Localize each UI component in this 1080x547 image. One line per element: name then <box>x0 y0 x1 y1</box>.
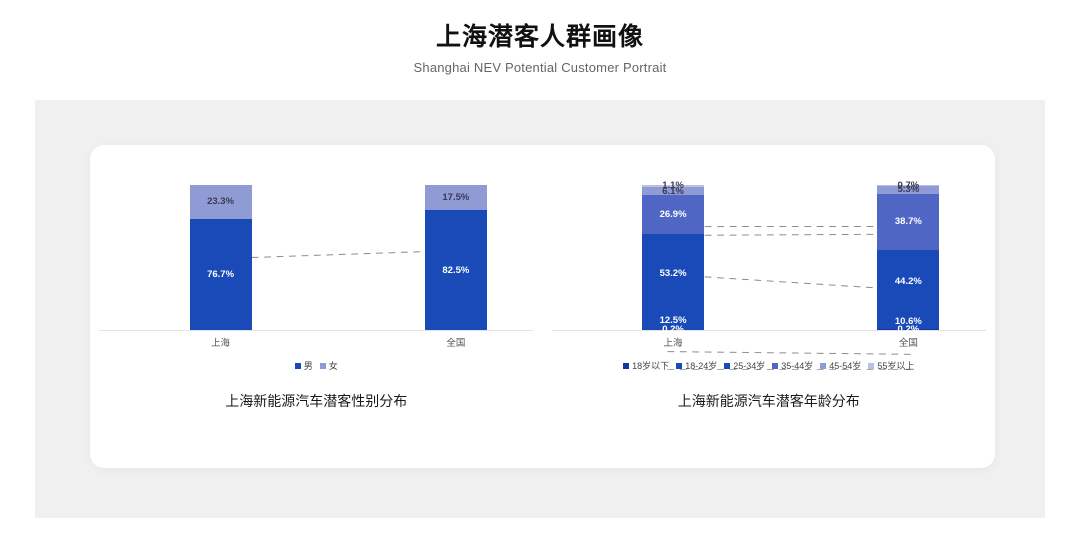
legend-item-女[interactable]: 女 <box>320 359 338 372</box>
legend-swatch-icon <box>623 363 629 369</box>
legend-swatch-icon <box>772 363 778 369</box>
legend-item-18岁以下[interactable]: 18岁以下 <box>623 359 669 372</box>
stack-segment-25-34岁[interactable]: 53.2% <box>642 234 704 311</box>
legend-item-55岁以上[interactable]: 55岁以上 <box>868 359 914 372</box>
legend-swatch-icon <box>295 363 301 369</box>
age-legend: 18岁以下18-24岁25-34岁35-44岁45-54岁55岁以上 <box>543 359 996 372</box>
axis-label-shanghai: 上海 <box>190 335 252 349</box>
axis-label-national: 全国 <box>425 335 487 349</box>
page-header: 上海潜客人群画像 Shanghai NEV Potential Customer… <box>0 0 1080 75</box>
age-bar-national[interactable]: 0.7%5.3%38.7%44.2%10.6%0.2% <box>877 185 939 330</box>
legend-item-18-24岁[interactable]: 18-24岁 <box>676 359 717 372</box>
legend-item-45-54岁[interactable]: 45-54岁 <box>820 359 861 372</box>
stack-segment-男[interactable]: 82.5% <box>425 210 487 330</box>
segment-value-label: 38.7% <box>895 216 922 227</box>
segment-value-label: 5.3% <box>898 184 920 195</box>
chart-age: 1.1%6.1%26.9%53.2%12.5%0.2% 0.7%5.3%38.7… <box>543 145 996 468</box>
stack-segment-25-34岁[interactable]: 44.2% <box>877 250 939 314</box>
stack-segment-45-54岁[interactable]: 6.1% <box>642 187 704 196</box>
legend-swatch-icon <box>868 363 874 369</box>
age-caption: 上海新能源汽车潜客年龄分布 <box>543 391 996 411</box>
legend-label: 男 <box>304 359 313 372</box>
page-subtitle: Shanghai NEV Potential Customer Portrait <box>0 60 1080 75</box>
axis-label-shanghai: 上海 <box>642 335 704 349</box>
stack-segment-女[interactable]: 23.3% <box>190 185 252 219</box>
segment-value-label: 0.2% <box>662 324 684 335</box>
age-axis-labels: 上海 全国 <box>543 335 996 351</box>
segment-value-label: 76.7% <box>207 269 234 280</box>
legend-swatch-icon <box>676 363 682 369</box>
segment-value-label: 23.3% <box>207 196 234 207</box>
legend-item-35-44岁[interactable]: 35-44岁 <box>772 359 813 372</box>
legend-label: 18-24岁 <box>685 359 717 372</box>
stack-segment-35-44岁[interactable]: 38.7% <box>877 194 939 250</box>
segment-value-label: 44.2% <box>895 276 922 287</box>
chart-gender: 23.3%76.7% 17.5%82.5% 上海 全国 男女 上海新能源汽车潜客… <box>90 145 543 468</box>
legend-item-25-34岁[interactable]: 25-34岁 <box>724 359 765 372</box>
segment-value-label: 26.9% <box>660 209 687 220</box>
segment-value-label: 6.1% <box>662 186 684 197</box>
stack-segment-女[interactable]: 17.5% <box>425 185 487 210</box>
charts-container: 23.3%76.7% 17.5%82.5% 上海 全国 男女 上海新能源汽车潜客… <box>90 145 995 468</box>
age-axis-line <box>552 330 986 331</box>
gender-plot-area: 23.3%76.7% 17.5%82.5% <box>90 185 543 330</box>
legend-label: 25-34岁 <box>733 359 765 372</box>
legend-label: 55岁以上 <box>877 359 914 372</box>
age-plot-area: 1.1%6.1%26.9%53.2%12.5%0.2% 0.7%5.3%38.7… <box>543 185 996 330</box>
legend-item-男[interactable]: 男 <box>295 359 313 372</box>
gender-bar-national[interactable]: 17.5%82.5% <box>425 185 487 330</box>
segment-value-label: 0.2% <box>898 324 920 335</box>
stack-segment-45-54岁[interactable]: 5.3% <box>877 186 939 194</box>
legend-label: 35-44岁 <box>781 359 813 372</box>
segment-value-label: 53.2% <box>660 268 687 279</box>
gender-axis-labels: 上海 全国 <box>90 335 543 351</box>
age-bar-shanghai[interactable]: 1.1%6.1%26.9%53.2%12.5%0.2% <box>642 185 704 330</box>
page-title: 上海潜客人群画像 <box>0 22 1080 53</box>
gender-axis-line <box>99 330 533 331</box>
axis-label-national: 全国 <box>877 335 939 349</box>
stack-segment-男[interactable]: 76.7% <box>190 219 252 330</box>
legend-swatch-icon <box>820 363 826 369</box>
connector-line <box>667 352 912 355</box>
gender-bar-shanghai[interactable]: 23.3%76.7% <box>190 185 252 330</box>
gender-caption: 上海新能源汽车潜客性别分布 <box>90 391 543 411</box>
gender-legend: 男女 <box>90 359 543 372</box>
stack-segment-35-44岁[interactable]: 26.9% <box>642 195 704 234</box>
legend-swatch-icon <box>320 363 326 369</box>
segment-value-label: 17.5% <box>442 192 469 203</box>
legend-label: 18岁以下 <box>632 359 669 372</box>
legend-label: 45-54岁 <box>829 359 861 372</box>
legend-swatch-icon <box>724 363 730 369</box>
legend-label: 女 <box>329 359 338 372</box>
segment-value-label: 82.5% <box>442 265 469 276</box>
